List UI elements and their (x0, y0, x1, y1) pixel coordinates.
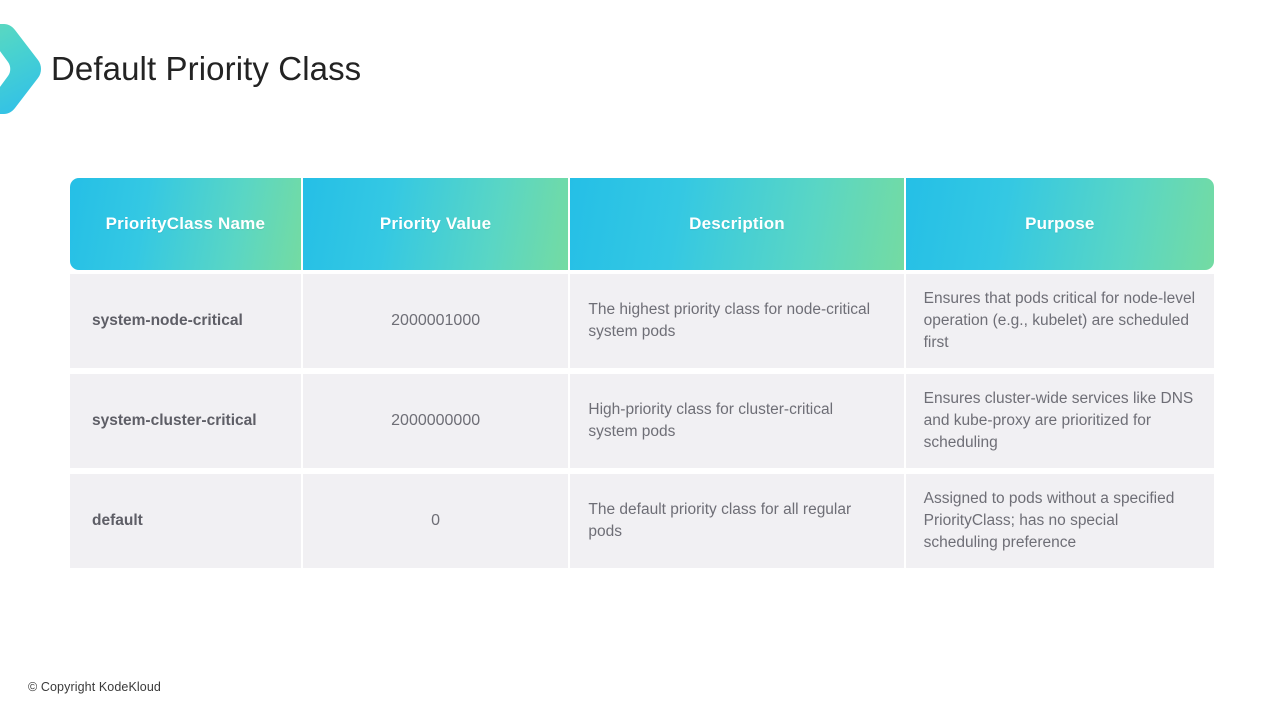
cell-value: Ensures that pods critical for node-leve… (924, 288, 1196, 354)
cell-value: 2000000000 (391, 410, 480, 432)
table-header-row: PriorityClass Name Priority Value Descri… (70, 178, 1214, 270)
cell-priorityclass-name: system-cluster-critical (70, 374, 301, 468)
column-header-description: Description (570, 178, 903, 270)
priority-class-table: PriorityClass Name Priority Value Descri… (70, 178, 1214, 574)
cell-description: The default priority class for all regul… (570, 474, 903, 568)
cell-purpose: Ensures cluster-wide services like DNS a… (906, 374, 1214, 468)
cell-value: High-priority class for cluster-critical… (588, 399, 885, 443)
cell-value: The default priority class for all regul… (588, 499, 885, 543)
cell-value: system-cluster-critical (92, 410, 257, 432)
cell-description: High-priority class for cluster-critical… (570, 374, 903, 468)
cell-priority-value: 2000001000 (303, 274, 569, 368)
column-header-label: Description (689, 214, 785, 234)
table-row: system-node-critical 2000001000 The high… (70, 274, 1214, 368)
chevron-right-icon (0, 22, 44, 116)
cell-value: The highest priority class for node-crit… (588, 299, 885, 343)
cell-priorityclass-name: default (70, 474, 301, 568)
cell-priority-value: 0 (303, 474, 569, 568)
cell-value: 2000001000 (391, 310, 480, 332)
column-header-priorityclass-name: PriorityClass Name (70, 178, 301, 270)
cell-purpose: Assigned to pods without a specified Pri… (906, 474, 1214, 568)
copyright-notice: © Copyright KodeKloud (28, 680, 161, 694)
column-header-purpose: Purpose (906, 178, 1214, 270)
page-title: Default Priority Class (51, 50, 361, 88)
column-header-label: Purpose (1025, 214, 1094, 234)
cell-purpose: Ensures that pods critical for node-leve… (906, 274, 1214, 368)
cell-value: Ensures cluster-wide services like DNS a… (924, 388, 1196, 454)
cell-priority-value: 2000000000 (303, 374, 569, 468)
table-row: system-cluster-critical 2000000000 High-… (70, 374, 1214, 468)
cell-value: default (92, 510, 143, 532)
table-row: default 0 The default priority class for… (70, 474, 1214, 568)
cell-value: system-node-critical (92, 310, 243, 332)
cell-value: Assigned to pods without a specified Pri… (924, 488, 1196, 554)
column-header-label: Priority Value (380, 214, 491, 234)
cell-priorityclass-name: system-node-critical (70, 274, 301, 368)
column-header-label: PriorityClass Name (106, 214, 266, 234)
cell-description: The highest priority class for node-crit… (570, 274, 903, 368)
column-header-priority-value: Priority Value (303, 178, 569, 270)
cell-value: 0 (431, 510, 440, 532)
